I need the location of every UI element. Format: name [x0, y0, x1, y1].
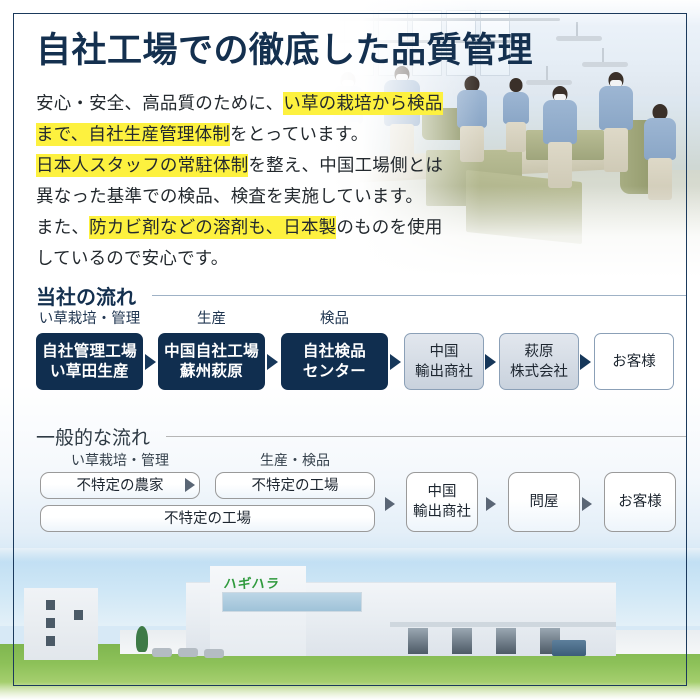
paragraph-line: しているので安心です。 [36, 243, 443, 274]
flow-node: お客様 [594, 333, 674, 390]
ceiling-lamp [582, 62, 628, 67]
paragraph-line: また、防カビ剤などの溶剤も、日本製のものを使用 [36, 212, 443, 243]
parked-car [178, 648, 198, 657]
flow-node: 不特定の工場 [215, 472, 375, 499]
flow-arrow-icon [385, 497, 395, 511]
flow-arrow-icon [580, 354, 591, 370]
heading-rule [152, 295, 686, 296]
highlighted-text: 自社生産管理体制 [88, 123, 230, 146]
flow-arrow-icon [185, 478, 195, 492]
paragraph-line: 日本人スタッフの常駐体制を整え、中国工場側とは [36, 150, 443, 181]
intro-paragraph: 安心・安全、高品質のために、い草の栽培から検品まで、自社生産管理体制をとっていま… [36, 88, 443, 274]
parked-car [152, 648, 172, 657]
flow-arrow-icon [582, 497, 592, 511]
highlighted-text: まで、 [36, 123, 88, 146]
worker-legs [548, 142, 572, 188]
plain-text: を整え、中国工場側とは [248, 155, 443, 175]
flow-arrow-icon [485, 354, 496, 370]
flow-node: 不特定の農家 [40, 472, 200, 499]
worker-torso [503, 92, 529, 124]
annex-window [46, 636, 55, 646]
flow-node: お客様 [604, 472, 676, 532]
highlighted-text: い草の栽培から検品 [283, 92, 442, 115]
flow-node: 中国自社工場 蘇州萩原 [158, 333, 265, 390]
highlighted-text: 日本人スタッフの常駐体制 [36, 154, 248, 177]
company-sign: ハギハラ [223, 573, 282, 592]
flow-node: 萩原 株式会社 [499, 333, 579, 390]
paragraph-line: 異なった基準での検品、検査を実施しています。 [36, 181, 443, 212]
ceiling-lamp [526, 80, 572, 85]
flow-node: 中国 輸出商社 [406, 472, 478, 532]
flow-stage-label: い草栽培・管理 [40, 450, 200, 470]
plain-text: また、 [36, 217, 89, 237]
ceiling-lamp [556, 36, 602, 41]
worker-torso [644, 118, 676, 160]
heading-rule [166, 436, 686, 437]
plain-text: しているので安心です。 [36, 248, 228, 268]
highlighted-text: 防カビ剤などの溶剤も、日本製 [89, 216, 336, 239]
parked-car [204, 649, 224, 658]
section-title-text: 一般的な流れ [36, 423, 150, 450]
plain-text: 安心・安全、高品質のために、 [36, 93, 283, 113]
loading-bay [452, 628, 472, 654]
paragraph-line: 安心・安全、高品質のために、い草の栽培から検品 [36, 88, 443, 119]
photo-top-fade [0, 548, 700, 562]
plain-text: をとっています。 [230, 124, 368, 144]
worker-legs [506, 122, 526, 152]
infographic-page: 自社工場での徹底した品質管理 安心・安全、高品質のために、い草の栽培から検品まで… [0, 0, 700, 700]
flow-arrow-icon [486, 497, 496, 511]
flow-stage-label: 生産・検品 [215, 450, 375, 470]
flow-node: 自社管理工場 い草田生産 [36, 333, 143, 390]
flow-node: 中国 輸出商社 [404, 333, 484, 390]
flow-node: 問屋 [508, 472, 580, 532]
loading-dock-canopy [390, 622, 616, 627]
annex-window [74, 610, 83, 620]
flow-arrow-icon [145, 354, 156, 370]
delivery-truck [552, 640, 586, 656]
annex-window [46, 618, 55, 628]
page-title: 自社工場での徹底した品質管理 [36, 33, 533, 68]
worker-torso [599, 86, 633, 130]
glass-curtain-wall [222, 592, 362, 612]
loading-bay [496, 628, 516, 654]
photo-bottom-fade [0, 682, 700, 700]
section-title-text: 当社の流れ [36, 281, 136, 310]
tree [136, 626, 148, 652]
section-heading-typical-flow: 一般的な流れ [36, 423, 686, 450]
annex-window [46, 600, 55, 610]
worker-head [510, 78, 523, 92]
plain-text: のものを使用 [336, 217, 442, 237]
flow-arrow-icon [267, 354, 278, 370]
loading-bay [408, 628, 428, 654]
section-heading-our-flow: 当社の流れ [36, 281, 686, 310]
flow-stage-label: い草栽培・管理 [36, 307, 143, 328]
office-annex-building [24, 588, 98, 660]
flow-stage-label: 検品 [281, 307, 388, 328]
flow-stage-label: 生産 [158, 307, 265, 328]
worker-torso [543, 100, 577, 144]
worker-legs [604, 128, 628, 172]
plain-text: 異なった基準での検品、検査を実施しています。 [36, 186, 423, 206]
paragraph-line: まで、自社生産管理体制をとっています。 [36, 119, 443, 150]
factory-exterior-photo: ハギハラ [0, 548, 700, 700]
flow-node: 自社検品 センター [281, 333, 388, 390]
flow-arrow-icon [390, 354, 401, 370]
flow-node: 不特定の工場 [40, 505, 375, 532]
